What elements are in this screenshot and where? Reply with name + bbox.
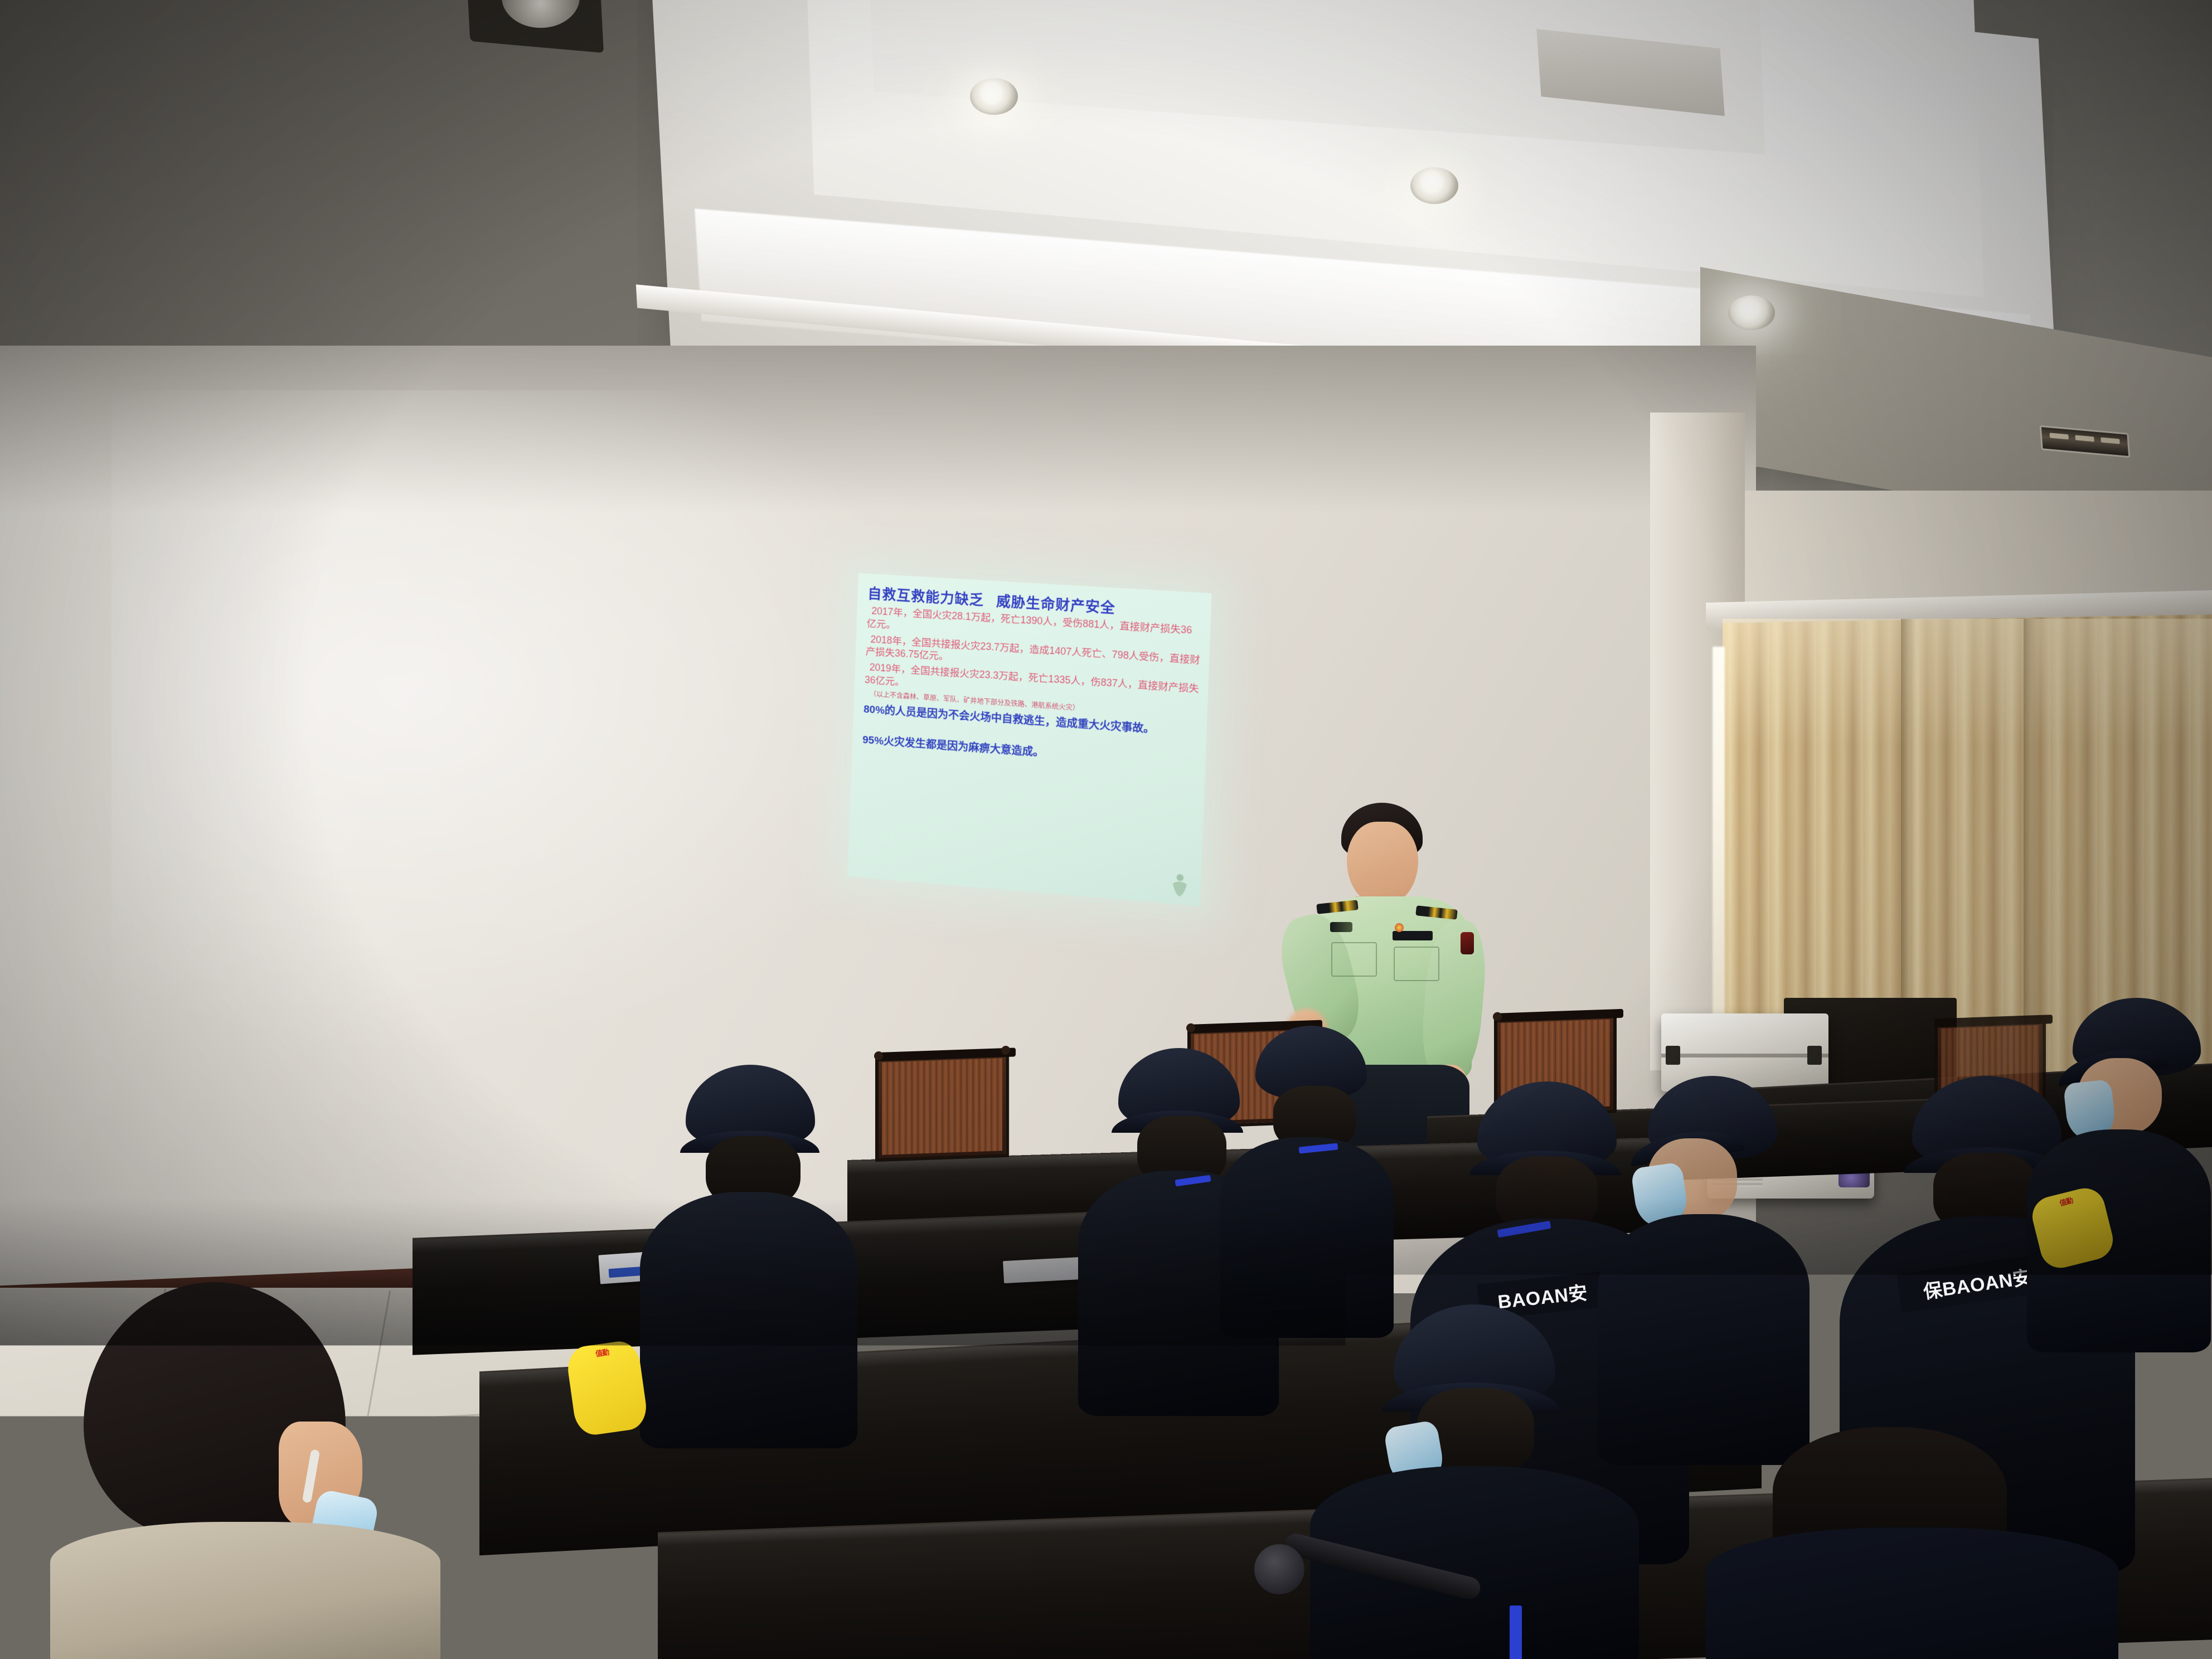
wall-projection-glow xyxy=(111,390,948,1059)
training-room-photo: ceiling air vent #d9c191 #d9d4ca 自救互救能力缺… xyxy=(0,0,2212,1659)
presenter-chest-insignia xyxy=(1330,922,1352,932)
downlight-icon-3 xyxy=(1728,295,1775,330)
presenter-pocket-left xyxy=(1331,942,1377,977)
front-center-lanyard xyxy=(1510,1605,1522,1659)
guard-left-armband: 值勤 xyxy=(565,1339,649,1438)
projected-slide: 自救互救能力缺乏 威胁生命财产安全 2017年，全国火灾28.1万起，死亡139… xyxy=(848,573,1212,906)
audience-guard-far-right: 值勤 xyxy=(2007,998,2212,1343)
bottle-logo-icon xyxy=(827,1555,845,1570)
guard-left-torso xyxy=(640,1192,857,1448)
audience-guard-left: 值勤 xyxy=(624,1065,858,1488)
chair-1[interactable] xyxy=(875,1051,1009,1162)
slide-watermark-icon xyxy=(1168,871,1192,899)
microphone-head-icon[interactable] xyxy=(1254,1544,1304,1594)
audience-front-center xyxy=(1299,1304,1645,1659)
audience-center-back xyxy=(1215,1026,1399,1338)
audience-foreground-right xyxy=(1706,1427,2129,1659)
presenter-pocket-right xyxy=(1394,947,1439,981)
bottle-brand-text: 农夫山泉 xyxy=(809,1575,863,1587)
presenter-badge-icon xyxy=(1395,923,1404,932)
bottle-label: 农夫山泉 xyxy=(809,1546,863,1600)
downlight-icon-2 xyxy=(1410,167,1458,204)
foreground-right-torso xyxy=(1706,1527,2118,1659)
ceiling-shadow-left xyxy=(0,0,725,390)
presenter-nametag xyxy=(1393,931,1433,940)
slide-highlight-95: 95%火灾发生都是因为麻痹大意造成。 xyxy=(862,731,1197,771)
audience-foreground-left xyxy=(17,1282,452,1659)
presenter-head xyxy=(1347,822,1418,904)
curtain-highlight xyxy=(1723,619,2212,747)
foreground-shirt xyxy=(50,1522,440,1659)
presenter-shoulder-patch xyxy=(1461,932,1474,954)
downlight-icon-1 xyxy=(970,78,1018,115)
water-bottle[interactable]: 农夫山泉 xyxy=(809,1457,863,1624)
